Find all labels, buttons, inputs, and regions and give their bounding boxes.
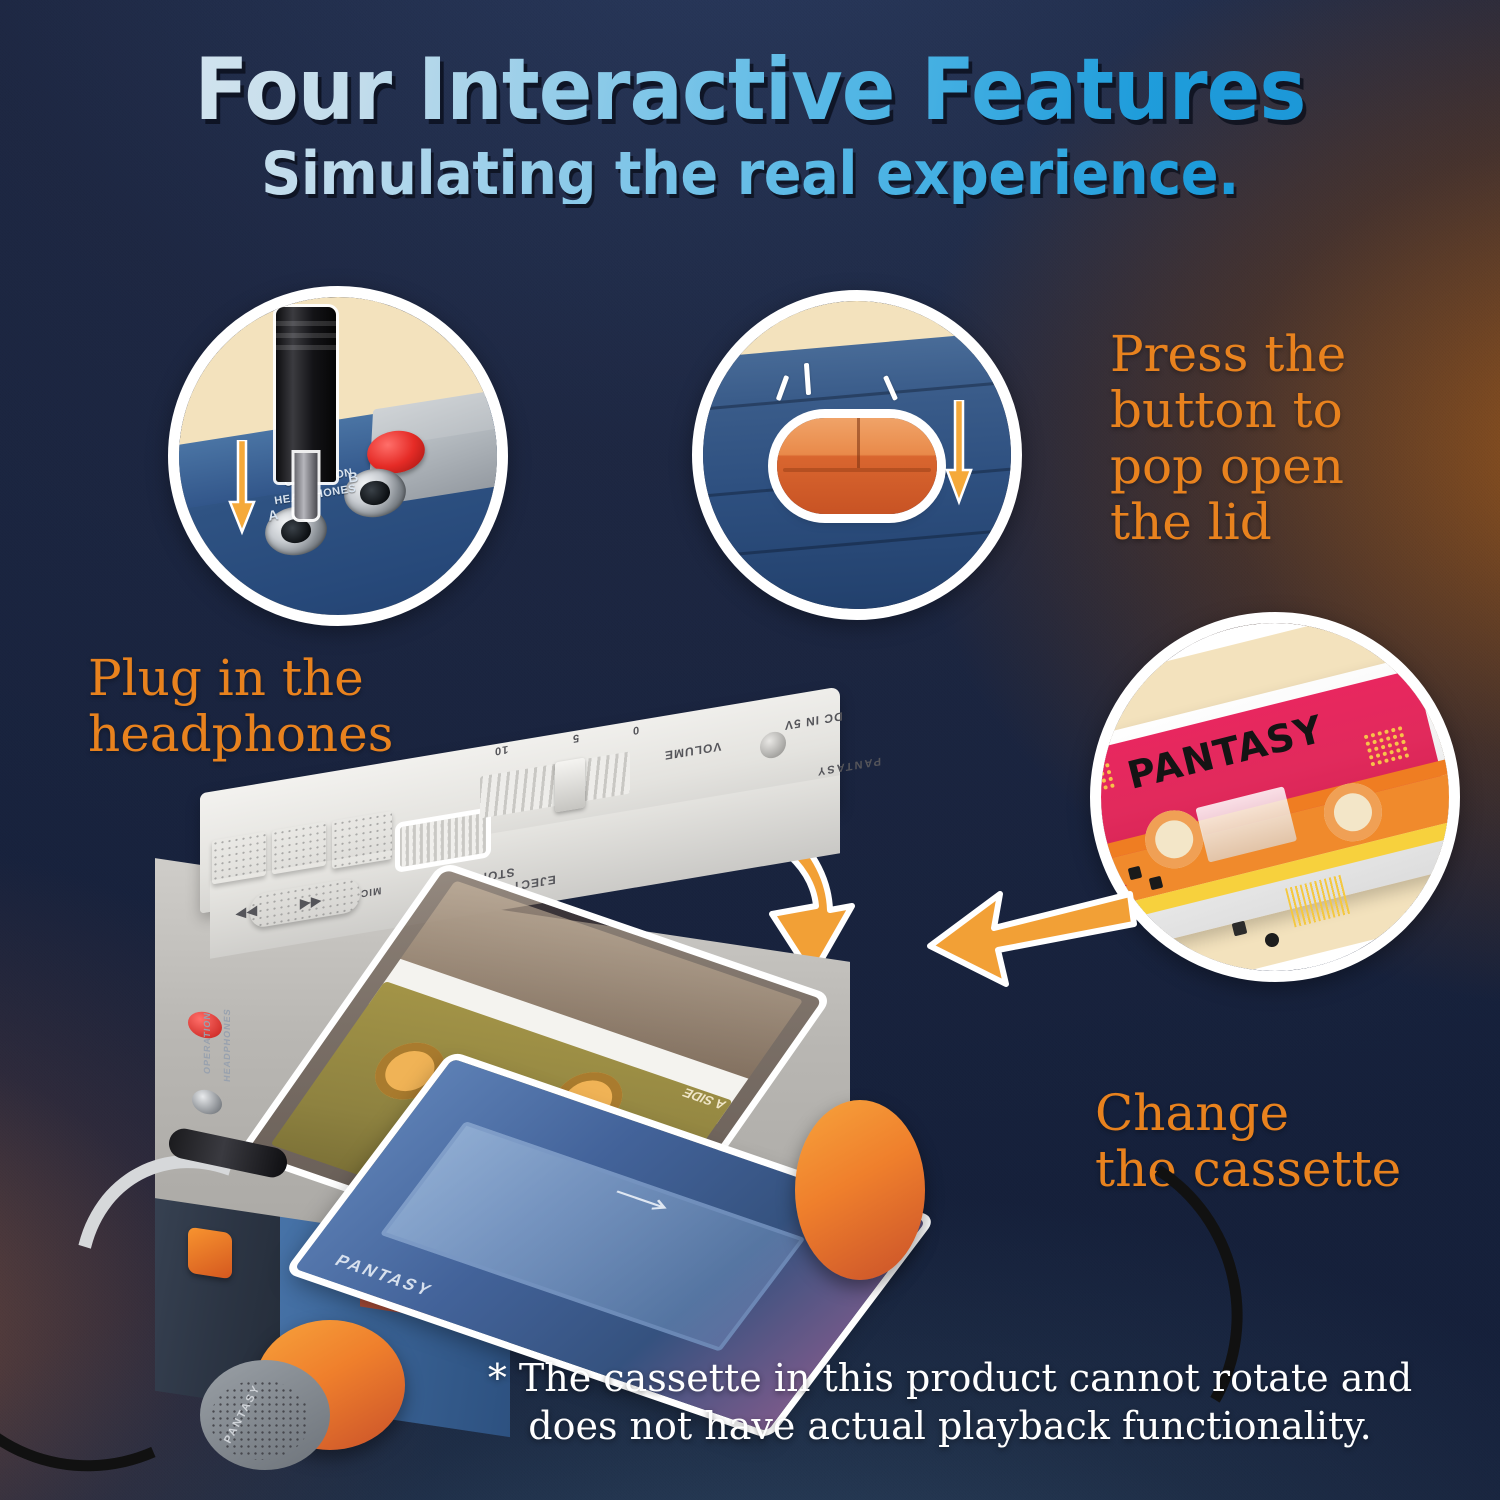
header: Four Interactive Features Simulating the… [0, 48, 1500, 204]
label-line: Press the [1110, 326, 1346, 382]
label-headphones-side: HEADPHONES [222, 1007, 232, 1082]
plug-pin [295, 453, 318, 519]
headphone-cup-right [795, 1100, 925, 1280]
label-operation-side: OPERATION [202, 1011, 212, 1074]
transport-button-play[interactable] [272, 821, 326, 874]
label-line: pop open [1110, 438, 1346, 494]
callout-label-press-button: Press the button to pop open the lid [1110, 326, 1346, 550]
infographic-canvas: Four Interactive Features Simulating the… [0, 0, 1500, 1500]
transport-button-record[interactable] [332, 811, 392, 869]
label-line: button to [1110, 382, 1346, 438]
disclaimer-line-1: * The cassette in this product cannot ro… [430, 1355, 1470, 1403]
disclaimer-note: * The cassette in this product cannot ro… [430, 1355, 1470, 1451]
transport-button-rewind[interactable] [212, 831, 266, 884]
cassette-notch-4 [1265, 933, 1279, 947]
down-arrow-icon [227, 440, 257, 540]
label-line: Change [1095, 1085, 1401, 1141]
button-edge [783, 468, 930, 472]
page-title: Four Interactive Features [60, 48, 1440, 132]
label-slider-mid: 5 [572, 731, 579, 744]
callout-jack-content: OPERATION HEADPHONES A B [179, 297, 497, 615]
down-arrow-icon [944, 400, 974, 510]
callout-cassette-content: PANTASY A SIDE [1101, 623, 1449, 971]
callout-circle-cassette: PANTASY A SIDE [1090, 612, 1460, 982]
disclaimer-line-2: does not have actual playback functional… [430, 1403, 1470, 1451]
volume-slider-knob[interactable] [555, 757, 585, 812]
callout-button-content [703, 301, 1011, 609]
callout-circle-headphone-jack: OPERATION HEADPHONES A B [168, 286, 508, 626]
callout-circle-press-button [692, 290, 1022, 620]
label-slider-min: 0 [632, 723, 639, 736]
cassette-notch-1 [1128, 865, 1143, 880]
label-jack-b: B [346, 468, 359, 485]
label-slider-max: 10 [494, 743, 508, 757]
label-jack-a: A [267, 506, 280, 523]
eject-button-brick[interactable] [777, 418, 937, 514]
page-subtitle: Simulating the real experience. [53, 144, 1448, 204]
button-seam [857, 418, 860, 468]
label-line: the lid [1110, 494, 1346, 550]
label-line: Plug in the [88, 650, 393, 706]
